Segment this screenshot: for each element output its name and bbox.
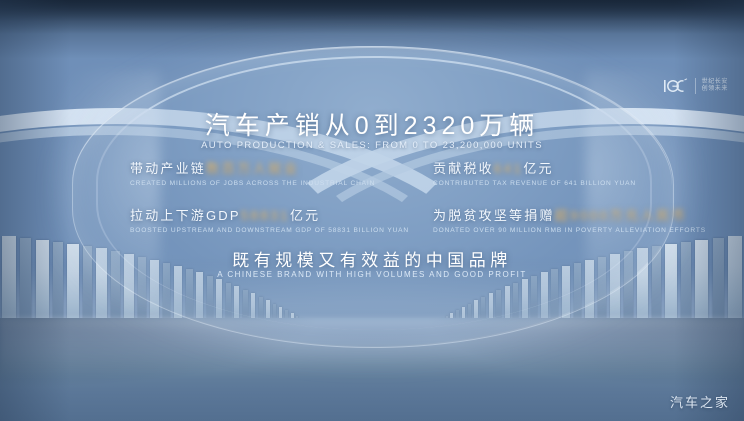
stat-suffix: 亿元 [523, 161, 553, 176]
stat-suffix: 亿元 [290, 208, 320, 223]
slide-content: 汽车产销从0到2320万辆 AUTO PRODUCTION & SALES: F… [0, 0, 744, 421]
stat-chinese-line: 贡献税收641亿元 [423, 158, 706, 177]
top-vignette [0, 0, 744, 34]
right-vignette [674, 0, 744, 421]
stat-prefix: 贡献税收 [433, 161, 494, 176]
tagline-english: A CHINESE BRAND WITH HIGH VOLUMES AND GO… [0, 270, 744, 279]
stat-item-donation: 为脱贫攻坚等捐赠超9000万元人民币 DONATED OVER 90 MILLI… [423, 205, 706, 234]
stat-english-line: DONATED OVER 90 MILLION RMB IN POVERTY A… [423, 227, 706, 234]
stat-item-gdp: 拉动上下游GDP58831亿元 BOOSTED UPSTREAM AND DOW… [96, 205, 409, 234]
stat-highlight-value: 58831 [241, 208, 290, 223]
stat-chinese-line: 拉动上下游GDP58831亿元 [96, 205, 409, 224]
stat-item-tax: 贡献税收641亿元 CONTRIBUTED TAX REVENUE OF 641… [423, 158, 706, 187]
autohome-watermark: 汽车之家 [670, 392, 730, 411]
left-vignette [0, 0, 70, 421]
stat-item-jobs: 带动产业链数百万人就业 CREATED MILLIONS OF JOBS ACR… [96, 158, 409, 187]
tagline-chinese: 既有规模又有效益的中国品牌 [0, 246, 744, 271]
stat-chinese-line: 为脱贫攻坚等捐赠超9000万元人民币 [423, 205, 706, 224]
stat-highlight-value: 641 [494, 161, 524, 176]
stat-highlight-value: 超9000万元人民币 [555, 208, 688, 223]
stat-english-line: CONTRIBUTED TAX REVENUE OF 641 BILLION Y… [423, 180, 706, 187]
stat-prefix: 拉动上下游GDP [130, 208, 241, 223]
headline-english: AUTO PRODUCTION & SALES: FROM 0 TO 23,20… [0, 140, 744, 151]
slide-canvas: 汽车产销从0到2320万辆 AUTO PRODUCTION & SALES: F… [0, 0, 744, 421]
stat-chinese-line: 带动产业链数百万人就业 [96, 158, 409, 177]
stat-english-line: CREATED MILLIONS OF JOBS ACROSS THE INDU… [96, 180, 409, 187]
headline-chinese: 汽车产销从0到2320万辆 [0, 106, 744, 142]
stat-english-line: BOOSTED UPSTREAM AND DOWNSTREAM GDP OF 5… [96, 227, 409, 234]
stat-prefix: 为脱贫攻坚等捐赠 [433, 208, 555, 223]
statistics-grid: 带动产业链数百万人就业 CREATED MILLIONS OF JOBS ACR… [96, 158, 648, 234]
stat-prefix: 带动产业链 [130, 161, 206, 176]
stat-highlight-value: 数百万人就业 [206, 161, 300, 176]
